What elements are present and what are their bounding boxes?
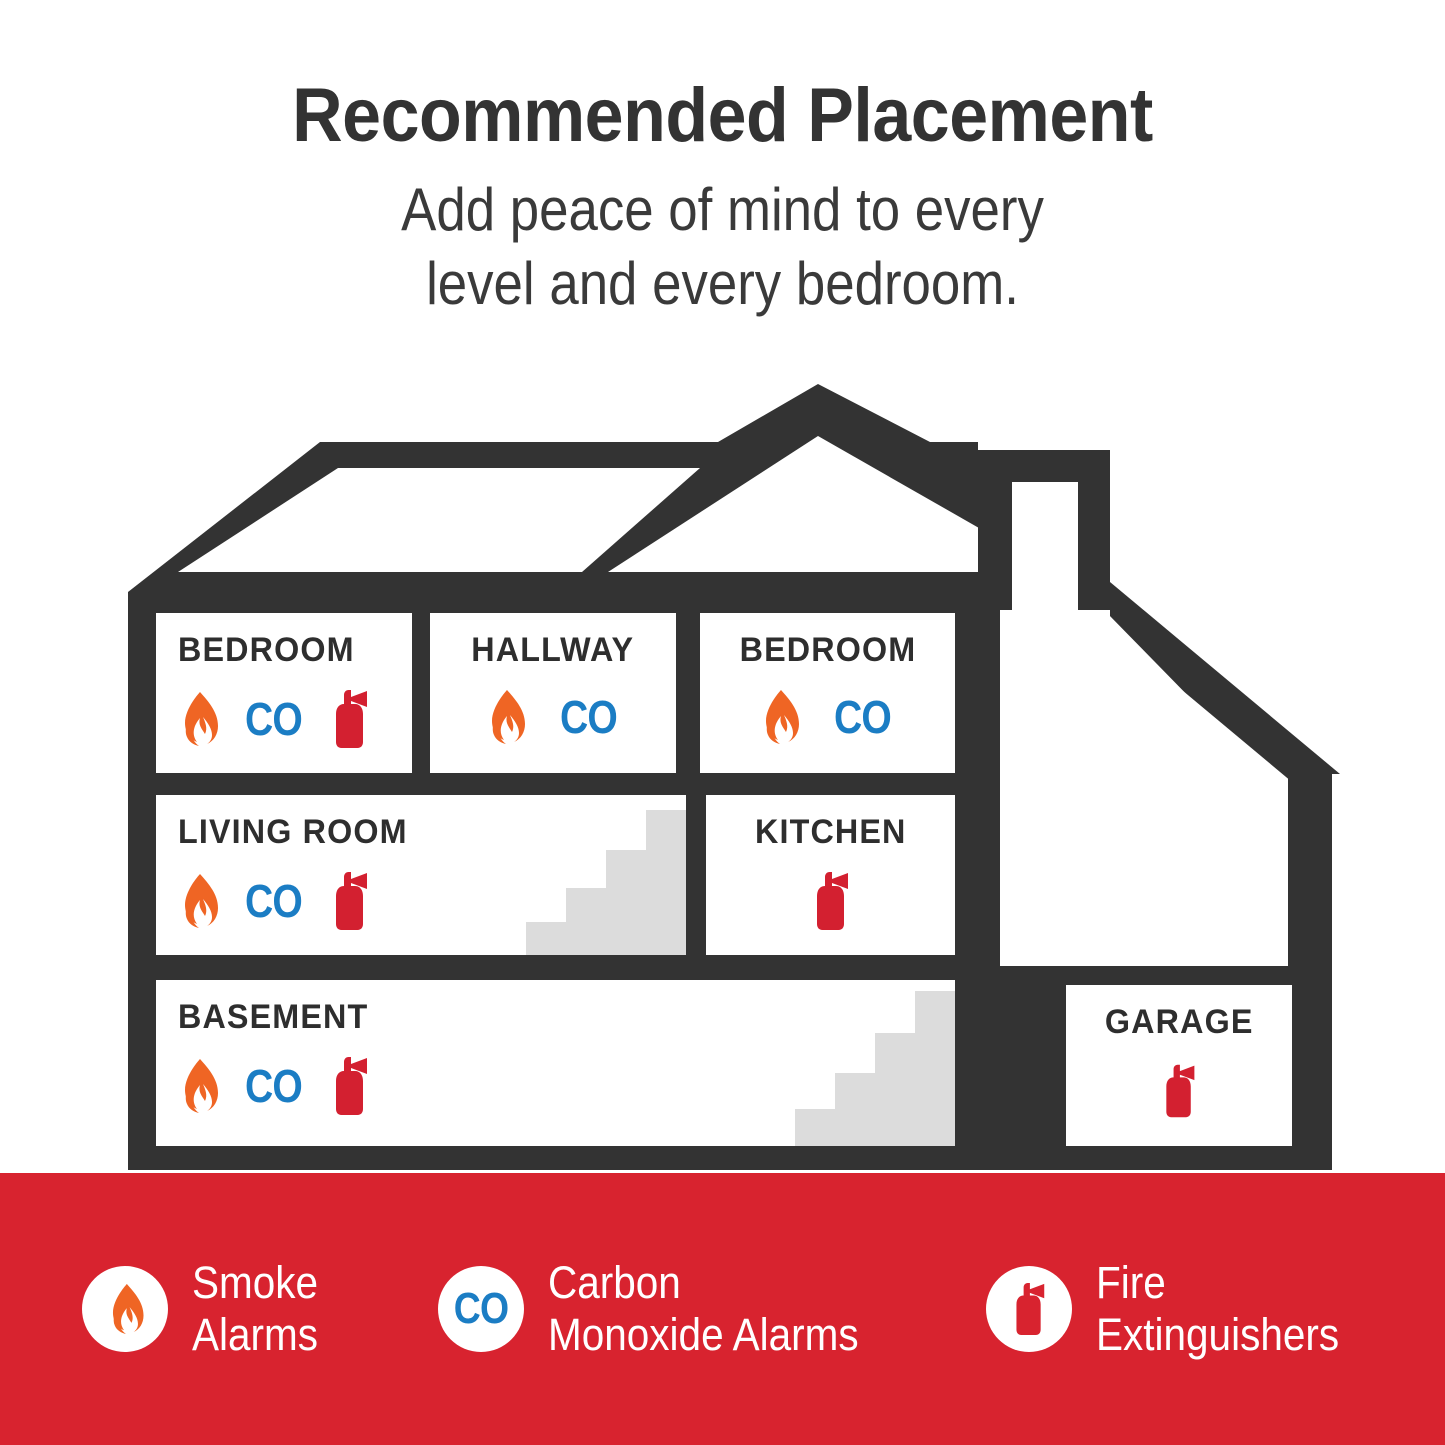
stairs-basement [795,991,955,1146]
co-alarm-icon: CO [245,696,302,742]
room-label: KITCHEN [755,813,907,852]
room-basement[interactable]: BASEMENT CO [156,980,955,1146]
room-label: BEDROOM [178,631,400,670]
subtitle-line-1: Add peace of mind to every [87,173,1359,247]
icon-row: CO [178,690,412,748]
subtitle-line-2: level and every bedroom. [87,247,1359,321]
smoke-alarm-icon [178,874,218,928]
right-margin-white [1332,774,1445,1174]
room-living-room[interactable]: LIVING ROOM CO [156,795,686,955]
legend-label: Smoke Alarms [192,1257,318,1361]
smoke-alarm-icon [485,690,525,744]
icon-row: CO [759,690,896,744]
fire-extinguisher-icon [810,872,852,930]
header: Recommended Placement Add peace of mind … [0,0,1445,321]
fire-extinguisher-icon [329,690,371,748]
fire-extinguisher-icon-circle [986,1266,1072,1352]
chimney-inner [1012,482,1078,610]
smoke-alarm-icon [178,692,218,746]
co-alarm-icon: CO [245,1063,302,1109]
room-label: HALLWAY [472,631,635,670]
room-label: GARAGE [1105,1003,1254,1042]
fire-extinguisher-icon [329,872,371,930]
icon-row: CO [485,690,622,744]
smoke-alarm-icon [106,1284,144,1334]
right-outer-wall [1288,774,1332,1170]
legend-item-smoke-alarms: Smoke Alarms [82,1257,332,1361]
co-alarm-icon-circle: CO [438,1266,524,1352]
co-alarm-icon: CO [245,878,302,924]
room-garage[interactable]: GARAGE [1066,985,1292,1146]
legend-item-fire-extinguishers: Fire Extinguishers [986,1257,1366,1361]
room-kitchen[interactable]: KITCHEN [706,795,955,955]
smoke-alarm-icon [759,690,799,744]
legend-bar: Smoke Alarms CO Carbon Monoxide Alarms F… [0,1173,1445,1445]
fire-extinguisher-icon [1010,1283,1048,1335]
legend-item-carbon-monoxide: CO Carbon Monoxide Alarms [438,1257,893,1361]
smoke-alarm-icon-circle [82,1266,168,1352]
icon-row [1160,1064,1198,1118]
icon-row [810,872,852,930]
legend-label: Fire Extinguishers [1096,1257,1339,1361]
co-alarm-icon: CO [834,694,891,740]
page-title: Recommended Placement [58,72,1387,159]
room-hallway[interactable]: HALLWAY CO [430,613,676,773]
smoke-alarm-icon [178,1059,218,1113]
co-alarm-icon: CO [560,694,617,740]
page-subtitle: Add peace of mind to every level and eve… [87,173,1359,321]
upper-right-white [1118,462,1340,580]
stairs-living-room [526,810,686,955]
house-diagram: BEDROOM CO HALLWAY [0,370,1445,1180]
legend-label: Carbon Monoxide Alarms [548,1257,859,1361]
fire-extinguisher-icon [1160,1064,1198,1118]
room-bedroom-right[interactable]: BEDROOM CO [700,613,955,773]
infographic-page: Recommended Placement Add peace of mind … [0,0,1445,1445]
room-label: BEDROOM [739,631,916,670]
room-bedroom-left[interactable]: BEDROOM CO [156,613,412,773]
co-alarm-icon: CO [454,1287,508,1331]
fire-extinguisher-icon [329,1057,371,1115]
